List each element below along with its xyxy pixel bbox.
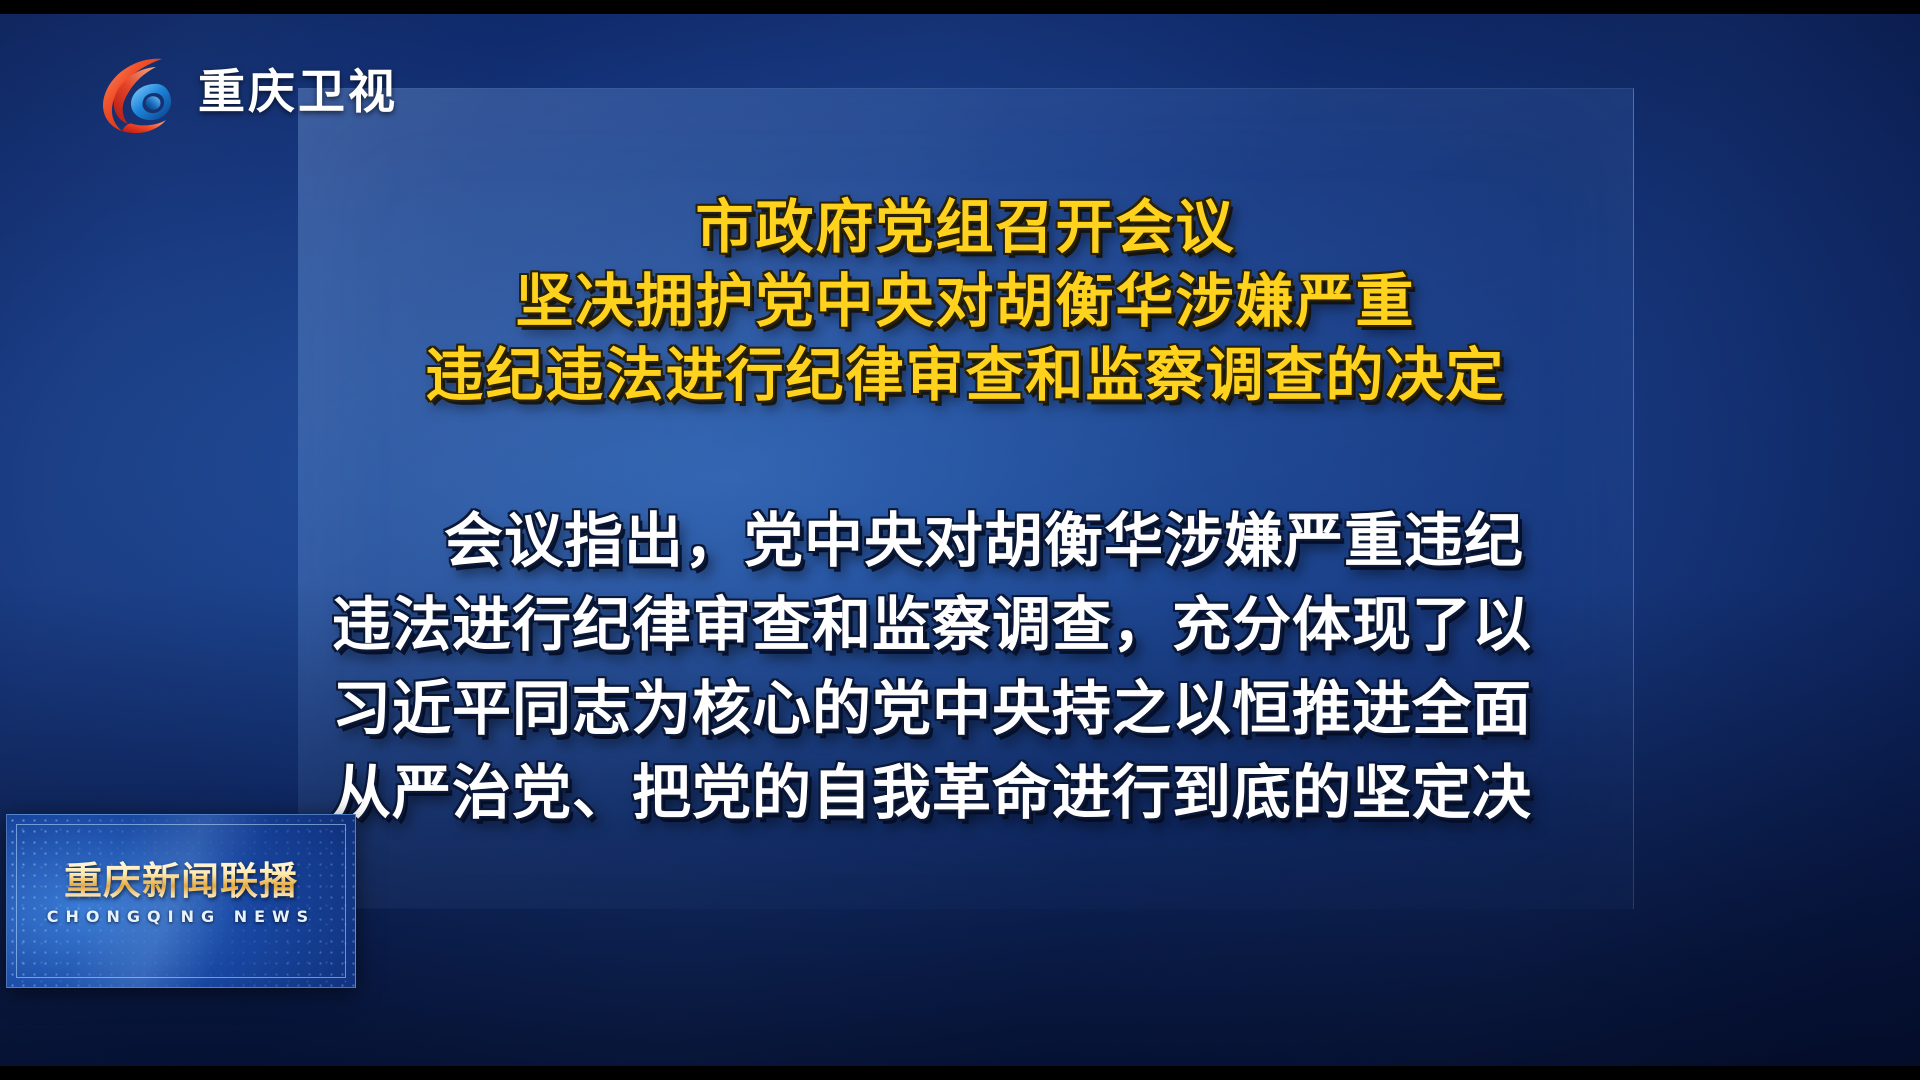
channel-logo: 重庆卫视 <box>92 50 398 134</box>
letterbox-top <box>0 0 1920 14</box>
chongqing-tv-swoosh-icon <box>92 50 184 134</box>
headline-line: 坚决拥护党中央对胡衡华涉嫌严重 <box>298 264 1633 338</box>
body-line: 违法进行纪律审查和监察调查，充分体现了以 <box>332 583 1599 667</box>
video-frame: 重庆卫视 市政府党组召开会议 坚决拥护党中央对胡衡华涉嫌严重 违纪违法进行纪律审… <box>0 14 1920 1066</box>
body-line: 从严治党、把党的自我革命进行到底的坚定决 <box>332 751 1599 835</box>
broadcast-screen: 重庆卫视 市政府党组召开会议 坚决拥护党中央对胡衡华涉嫌严重 违纪违法进行纪律审… <box>0 0 1920 1080</box>
headline-line: 市政府党组召开会议 <box>298 190 1633 264</box>
program-title-cn: 重庆新闻联播 <box>7 859 355 903</box>
body-line: 习近平同志为核心的党中央持之以恒推进全面 <box>332 667 1599 751</box>
headline-line: 违纪违法进行纪律审查和监察调查的决定 <box>298 338 1633 412</box>
program-bug: 重庆新闻联播 CHONGQING NEWS <box>6 814 356 988</box>
letterbox-bottom <box>0 1066 1920 1080</box>
body-line: 会议指出，党中央对胡衡华涉嫌严重违纪 <box>332 499 1599 583</box>
channel-logo-label: 重庆卫视 <box>198 69 398 116</box>
program-bug-text: 重庆新闻联播 CHONGQING NEWS <box>7 859 355 926</box>
news-body-text: 会议指出，党中央对胡衡华涉嫌严重违纪 违法进行纪律审查和监察调查，充分体现了以 … <box>298 499 1633 835</box>
news-headline: 市政府党组召开会议 坚决拥护党中央对胡衡华涉嫌严重 违纪违法进行纪律审查和监察调… <box>298 190 1633 412</box>
program-title-en: CHONGQING NEWS <box>7 907 355 926</box>
